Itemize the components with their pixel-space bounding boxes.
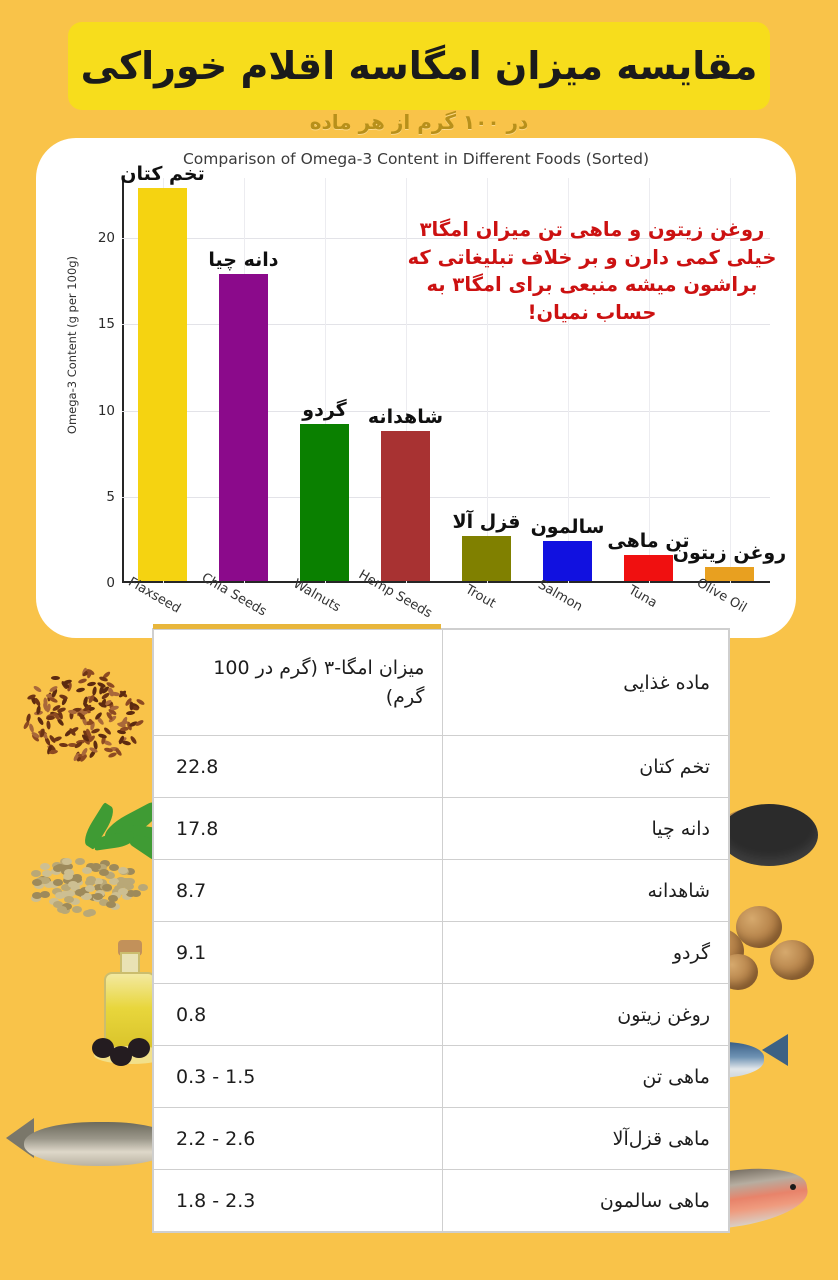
- flax-seed: [73, 740, 83, 749]
- flax-seed: [82, 736, 91, 745]
- hemp-seed: [52, 888, 62, 895]
- hemp-seed: [62, 858, 72, 865]
- flax-seed: [48, 743, 57, 752]
- hemp-seed: [86, 876, 96, 883]
- flax-seed: [129, 705, 139, 712]
- flax-seed: [89, 721, 95, 731]
- flax-seed: [57, 706, 67, 713]
- flax-seed: [46, 745, 53, 755]
- flax-seed: [89, 695, 99, 704]
- hemp-seed: [80, 887, 90, 894]
- flax-seed: [76, 687, 86, 693]
- hemp-seed: [102, 884, 112, 891]
- bar-walnuts[interactable]: گردو: [300, 424, 349, 581]
- hemp-seed: [41, 877, 51, 884]
- hemp-seed: [57, 906, 67, 913]
- flax-seed: [87, 735, 96, 744]
- cell-omega3-amount: 1.8 - 2.3: [154, 1170, 443, 1232]
- table-row: گردو9.1: [154, 922, 729, 984]
- flax-seed: [67, 709, 77, 714]
- hemp-seed: [82, 893, 92, 900]
- flax-seed: [81, 668, 88, 678]
- flax-seed: [88, 746, 98, 753]
- y-axis-tick: 10: [98, 403, 115, 419]
- flax-seed: [49, 750, 59, 755]
- hemp-seed: [95, 891, 105, 898]
- flax-seed: [129, 735, 137, 745]
- bar-chia-seeds[interactable]: دانه چیا: [219, 274, 268, 581]
- hemp-seed: [99, 869, 109, 876]
- hemp-seed: [86, 909, 96, 916]
- hemp-seed: [32, 892, 42, 899]
- hemp-seed: [116, 877, 126, 884]
- hemp-seed: [55, 864, 65, 871]
- hemp-seed: [126, 890, 136, 897]
- hemp-seed: [60, 907, 70, 914]
- cell-food-name: تخم کتان: [443, 736, 729, 798]
- y-axis-tick: 0: [106, 575, 115, 591]
- flax-seed: [57, 710, 64, 720]
- table-row: ماهی قزل‌آلا2.2 - 2.6: [154, 1108, 729, 1170]
- flax-seed: [51, 676, 60, 680]
- hemp-seed: [65, 873, 75, 880]
- cell-omega3-amount: 22.8: [154, 736, 443, 798]
- flax-seed: [135, 719, 145, 727]
- hemp-seed: [53, 879, 63, 886]
- flax-seed: [110, 702, 115, 711]
- hemp-seed: [62, 903, 72, 910]
- hemp-seed: [70, 884, 80, 891]
- hemp-seed: [74, 889, 84, 896]
- bar-label-fa: تخم کتان: [120, 163, 205, 185]
- flax-seed: [101, 685, 110, 694]
- flax-seed: [83, 704, 93, 712]
- flax-seed: [82, 669, 92, 678]
- hemp-seed: [68, 881, 78, 888]
- hemp-seed: [34, 878, 44, 885]
- flax-seed: [53, 736, 63, 743]
- omega3-table-container: ماده غذایی میزان امگا-۳ (گرم در 100 گرم)…: [152, 628, 730, 1233]
- hemp-seed: [70, 898, 80, 905]
- flax-seed: [42, 702, 49, 712]
- chia-seed-pile: [720, 804, 818, 866]
- walnut: [770, 940, 814, 980]
- trout-tail: [6, 1118, 34, 1158]
- hemp-seed: [124, 883, 134, 890]
- hemp-seed: [85, 885, 95, 892]
- hemp-seed: [55, 892, 65, 899]
- hemp-seed: [65, 881, 75, 888]
- hemp-seed: [36, 877, 46, 884]
- cell-omega3-amount: 8.7: [154, 860, 443, 922]
- hemp-seed: [112, 890, 122, 897]
- flax-seed: [101, 735, 107, 745]
- flax-seed: [37, 716, 45, 726]
- title-banner: مقایسه میزان امگاسه اقلام خوراکی: [68, 22, 770, 110]
- bar-label-fa: دانه چیا: [208, 249, 278, 271]
- flax-seed: [82, 730, 91, 739]
- flax-seed: [98, 685, 104, 695]
- flax-seed: [86, 668, 96, 676]
- hemp-seed: [44, 881, 54, 888]
- hemp-seed: [111, 892, 121, 899]
- flax-seed: [59, 742, 68, 747]
- flax-seed: [33, 685, 43, 693]
- bar-label-fa: سالمون: [531, 516, 605, 538]
- table-body: تخم کتان22.8دانه چیا17.8شاهدانه8.7گردو9.…: [154, 736, 729, 1232]
- flax-seed: [46, 693, 56, 701]
- y-axis-tick: 20: [98, 230, 115, 246]
- flax-seed: [34, 710, 44, 716]
- flax-seed: [44, 736, 51, 746]
- page-title: مقایسه میزان امگاسه اقلام خوراکی: [81, 44, 758, 88]
- flax-seed: [79, 710, 86, 720]
- hemp-seed: [72, 906, 82, 913]
- flax-seed: [80, 747, 88, 757]
- flax-seed: [68, 742, 77, 746]
- flax-seed: [92, 686, 98, 696]
- cell-food-name: گردو: [443, 922, 729, 984]
- hemp-seed: [86, 863, 96, 870]
- flax-seed: [31, 731, 41, 739]
- y-axis-tick: 5: [106, 489, 115, 505]
- hemp-seed: [100, 883, 110, 890]
- bar-label-fa: گردو: [302, 399, 346, 421]
- flax-seed: [47, 745, 57, 752]
- flax-seed: [91, 728, 101, 735]
- hemp-seed: [38, 876, 48, 883]
- bar-olive-oil[interactable]: روغن زیتون: [705, 567, 754, 581]
- hemp-seed: [75, 858, 85, 865]
- subtitle-row: در ۱۰۰ گرم از هر ماده: [0, 110, 838, 134]
- flax-seed: [107, 687, 114, 697]
- hemp-seed: [61, 884, 71, 891]
- flax-seed: [46, 693, 55, 698]
- flax-seed: [108, 687, 115, 697]
- flax-seed: [87, 694, 95, 704]
- flax-seed: [87, 682, 97, 688]
- flax-seed: [74, 752, 80, 762]
- hemp-seed: [102, 884, 112, 891]
- hemp-seed: [119, 868, 129, 875]
- hemp-seed: [109, 864, 119, 871]
- hemp-seed: [69, 877, 79, 884]
- flax-seed: [64, 729, 73, 738]
- bar-trout[interactable]: قزل آلا: [462, 536, 511, 581]
- flax-seed: [39, 729, 45, 739]
- flax-seed: [97, 681, 107, 688]
- bar-label-fa: قزل آلا: [452, 511, 520, 533]
- flax-seed: [77, 709, 84, 719]
- hemp-seed: [58, 863, 68, 870]
- hemp-seed: [51, 868, 61, 875]
- flax-seed: [120, 727, 129, 732]
- flax-seed: [45, 713, 55, 720]
- hemp-seed: [112, 888, 122, 895]
- hemp-seed: [64, 896, 74, 903]
- hemp-seed: [94, 884, 104, 891]
- omega3-table: ماده غذایی میزان امگا-۳ (گرم در 100 گرم)…: [153, 629, 729, 1232]
- flax-seed: [108, 708, 118, 716]
- flax-seed: [130, 702, 140, 710]
- hemp-seed: [63, 877, 73, 884]
- flax-seed: [126, 721, 132, 731]
- bar-tuna[interactable]: تن ماهی: [624, 555, 673, 581]
- flax-seed: [45, 703, 51, 713]
- hemp-seed: [122, 893, 132, 900]
- bar-label-fa: شاهدانه: [368, 406, 443, 428]
- flax-seed: [76, 707, 83, 717]
- hemp-seed: [72, 874, 82, 881]
- flax-seed: [86, 669, 93, 679]
- flax-seed: [86, 707, 96, 712]
- flax-seed: [51, 688, 59, 698]
- hemp-seed: [56, 903, 66, 910]
- flax-seed: [77, 678, 87, 685]
- hemp-seed: [109, 878, 119, 885]
- hemp-seed: [85, 879, 95, 886]
- flax-seed: [40, 730, 49, 740]
- hemp-seed: [102, 885, 112, 892]
- hemp-seed: [110, 903, 120, 910]
- hemp-seed: [99, 899, 109, 906]
- hemp-seed: [125, 878, 135, 885]
- table-row: دانه چیا17.8: [154, 798, 729, 860]
- cell-food-name: روغن زیتون: [443, 984, 729, 1046]
- hemp-seed: [72, 876, 82, 883]
- cell-omega3-amount: 17.8: [154, 798, 443, 860]
- hemp-seed: [64, 869, 74, 876]
- flax-seed: [111, 691, 120, 696]
- hemp-seed: [77, 890, 87, 897]
- flax-seed: [97, 733, 107, 739]
- flax-seed: [58, 693, 68, 700]
- y-axis-label: Omega-3 Content (g per 100g): [65, 245, 79, 445]
- flax-seed: [104, 747, 114, 753]
- flax-seed: [119, 690, 128, 699]
- cell-food-name: دانه چیا: [443, 798, 729, 860]
- flax-seed: [81, 716, 87, 726]
- bar-label-fa: روغن زیتون: [673, 542, 786, 564]
- hemp-seed: [117, 881, 127, 888]
- table-header-amount: میزان امگا-۳ (گرم در 100 گرم): [154, 630, 443, 736]
- bottle-cork: [118, 940, 142, 956]
- flax-seed: [85, 728, 92, 738]
- hemp-seed: [91, 863, 101, 870]
- flax-seed: [88, 750, 96, 760]
- cell-food-name: ماهی تن: [443, 1046, 729, 1108]
- flax-seed: [83, 733, 92, 742]
- flax-seed: [84, 729, 93, 738]
- x-axis-tick: Tuna: [625, 583, 659, 611]
- table-row: روغن زیتون0.8: [154, 984, 729, 1046]
- hemp-seed: [95, 890, 105, 897]
- flax-seed: [70, 710, 74, 719]
- bar-salmon[interactable]: سالمون: [543, 541, 592, 581]
- flax-seed: [30, 695, 36, 705]
- flax-seed: [110, 747, 119, 752]
- hemp-seed: [31, 870, 41, 877]
- table-row: تخم کتان22.8: [154, 736, 729, 798]
- flax-seed: [46, 720, 51, 729]
- cell-food-name: ماهی قزل‌آلا: [443, 1108, 729, 1170]
- flax-seed: [120, 716, 128, 726]
- flax-seed: [128, 720, 138, 727]
- flax-seed: [76, 754, 85, 763]
- hemp-seed: [93, 893, 103, 900]
- flax-seed: [84, 721, 94, 726]
- flax-seed: [108, 706, 114, 716]
- hemp-seed: [104, 871, 114, 878]
- olive-fruit: [110, 1046, 132, 1066]
- flax-seed: [48, 734, 56, 744]
- salmon-eye: [790, 1184, 796, 1190]
- walnut: [736, 906, 782, 948]
- cell-omega3-amount: 9.1: [154, 922, 443, 984]
- flax-seed: [75, 739, 84, 744]
- hemp-seed: [83, 910, 93, 917]
- flax-seed: [102, 699, 112, 707]
- hemp-seed: [100, 860, 110, 867]
- flax-seed: [60, 696, 68, 706]
- flax-seed: [77, 753, 86, 758]
- flax-seed: [87, 695, 96, 700]
- olive-fruit: [92, 1038, 114, 1058]
- flax-seed: [26, 714, 32, 724]
- bar-hemp-seeds[interactable]: شاهدانه: [381, 431, 430, 581]
- cell-omega3-amount: 2.2 - 2.6: [154, 1108, 443, 1170]
- flax-seed: [103, 726, 112, 735]
- flax-seed: [100, 692, 110, 700]
- flaxseed-image: [14, 660, 154, 770]
- hemp-seed: [131, 890, 141, 897]
- cell-food-name: ماهی سالمون: [443, 1170, 729, 1232]
- flax-seed: [26, 693, 36, 700]
- flax-seed: [73, 752, 81, 762]
- flax-seed: [98, 676, 108, 683]
- flax-seed: [117, 729, 127, 735]
- hemp-seed: [93, 895, 103, 902]
- flax-seed: [49, 711, 59, 717]
- hemp-seed: [75, 889, 85, 896]
- flax-seed: [68, 727, 77, 737]
- flax-seed: [60, 680, 68, 690]
- hemp-seed: [63, 873, 73, 880]
- table-header-food: ماده غذایی: [443, 630, 729, 736]
- flax-seed: [82, 708, 92, 714]
- hemp-seed: [31, 895, 41, 902]
- flax-seed: [118, 689, 127, 698]
- flax-seed: [87, 718, 95, 728]
- hemp-leaf: [93, 831, 135, 850]
- hemp-seed: [60, 864, 70, 871]
- flax-seed: [38, 730, 48, 736]
- hemp-seed: [93, 878, 103, 885]
- flax-seed: [107, 714, 117, 723]
- olive-fruit: [128, 1038, 150, 1058]
- flax-seed: [100, 698, 107, 708]
- flax-seed: [93, 740, 98, 750]
- hemp-seed: [53, 901, 63, 908]
- flax-seed: [56, 718, 65, 727]
- cell-omega3-amount: 0.8: [154, 984, 443, 1046]
- flax-seed: [47, 692, 53, 702]
- hemp-seed: [68, 877, 78, 884]
- flax-seed: [136, 698, 146, 706]
- flax-seed: [52, 704, 62, 712]
- hemp-seed: [105, 872, 115, 879]
- flax-seed: [79, 711, 89, 716]
- flax-seed: [69, 726, 79, 734]
- flax-seed: [102, 670, 111, 679]
- flax-seed: [102, 740, 112, 747]
- hemp-seed: [32, 879, 42, 886]
- flax-seed: [38, 728, 44, 738]
- hemp-seed: [52, 862, 62, 869]
- hemp-seed: [34, 882, 44, 889]
- chart-annotation: روغن زیتون و ماهی تن میزان امگا۳ خیلی کم…: [406, 216, 778, 327]
- hemp-seed: [40, 863, 50, 870]
- hemp-seed: [79, 889, 89, 896]
- flax-seed: [124, 697, 133, 707]
- flax-seed: [126, 711, 135, 716]
- flax-seed: [114, 748, 123, 758]
- hemp-seed: [63, 863, 73, 870]
- hemp-seed: [81, 893, 91, 900]
- flax-seed: [49, 685, 59, 693]
- hemp-seed: [114, 885, 124, 892]
- flax-seed: [77, 711, 86, 720]
- flax-seed: [46, 716, 55, 721]
- flax-seed: [80, 733, 89, 742]
- flax-seed: [108, 751, 118, 758]
- flax-seed: [119, 720, 129, 726]
- tuna-tail: [762, 1034, 788, 1066]
- flax-seed: [79, 754, 88, 763]
- chart-card: Comparison of Omega-3 Content in Differe…: [36, 138, 796, 638]
- x-axis-tick: Trout: [462, 582, 498, 611]
- flax-seed: [72, 707, 82, 713]
- hemp-seed: [73, 879, 83, 886]
- flax-seed: [118, 735, 125, 745]
- flax-seed: [97, 701, 107, 709]
- flax-seed: [94, 711, 103, 720]
- flax-seed: [117, 722, 127, 728]
- hemp-seed: [125, 868, 135, 875]
- flax-seed: [31, 733, 40, 742]
- flax-seed: [43, 697, 48, 706]
- hemp-seed: [89, 894, 99, 901]
- flax-seed: [34, 697, 42, 707]
- hemp-seed: [49, 881, 59, 888]
- flax-seed: [121, 740, 131, 746]
- cell-omega3-amount: 0.3 - 1.5: [154, 1046, 443, 1108]
- hemp-seed: [82, 867, 92, 874]
- flax-seed: [110, 705, 120, 711]
- flax-seed: [96, 716, 105, 726]
- bar-flaxseed[interactable]: تخم کتان: [138, 188, 187, 581]
- hemp-seed: [120, 878, 130, 885]
- flax-seed: [104, 702, 114, 708]
- hemp-seed: [91, 865, 101, 872]
- hemp-seed: [138, 884, 148, 891]
- hemp-seed: [108, 895, 118, 902]
- flax-seed: [63, 678, 73, 684]
- hemp-seed: [40, 877, 50, 884]
- flax-seed: [82, 701, 91, 710]
- hemp-seed: [60, 858, 70, 865]
- cell-food-name: شاهدانه: [443, 860, 729, 922]
